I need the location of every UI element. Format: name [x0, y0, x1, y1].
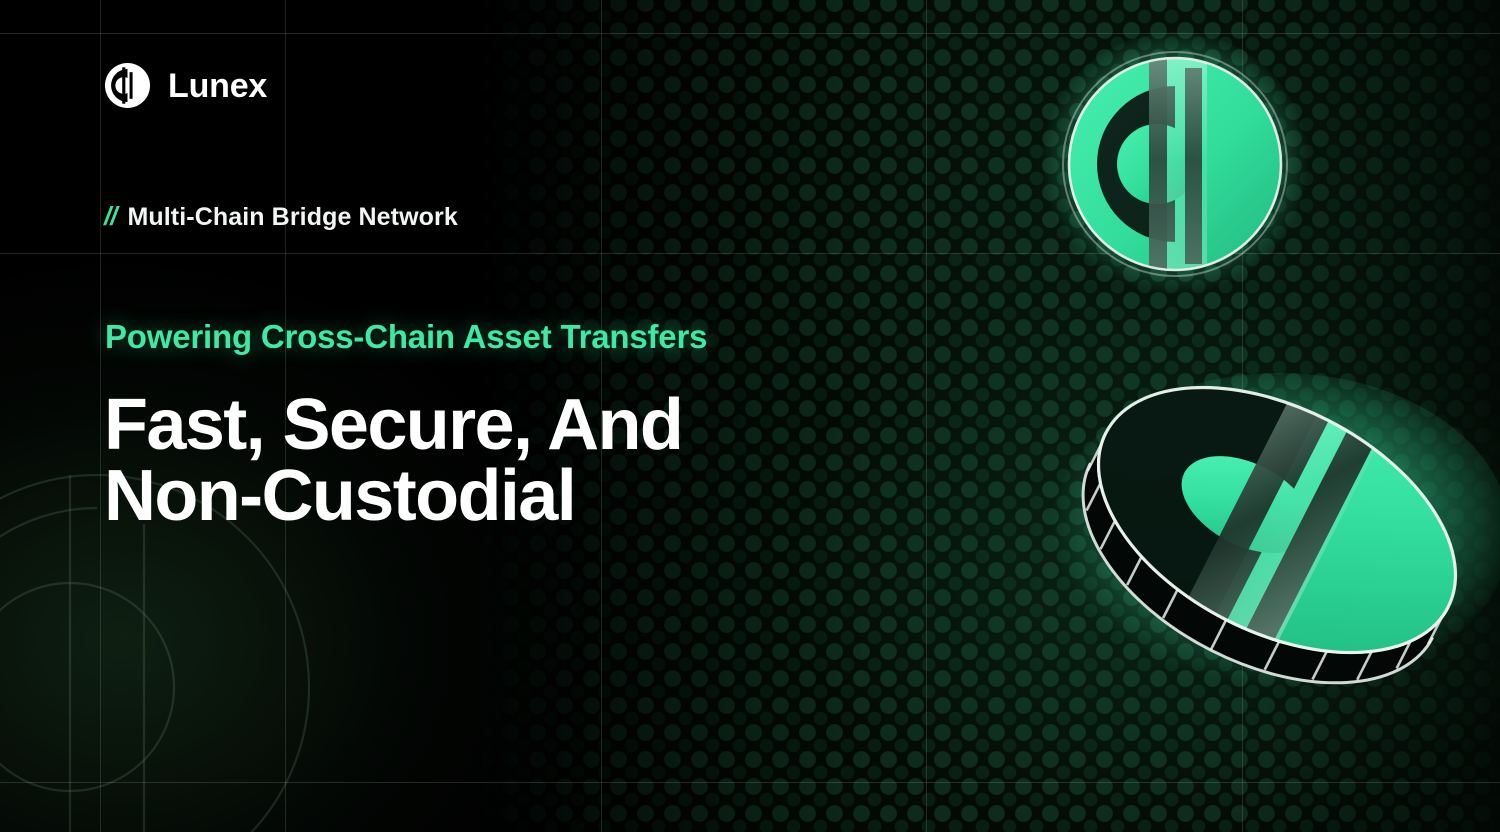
brand-lockup[interactable]: Lunex — [104, 62, 267, 109]
lunex-coin-tilted-icon — [1055, 368, 1500, 728]
lunex-circle-mark-icon — [104, 62, 151, 109]
eyebrow-label: Multi-Chain Bridge Network — [127, 205, 457, 230]
hero-kicker: Powering Cross-Chain Asset Transfers — [105, 320, 707, 353]
hero-banner: Lunex // Multi-Chain Bridge Network Powe… — [0, 0, 1500, 832]
hero-headline: Fast, Secure, And Non-Custodial — [104, 390, 682, 533]
eyebrow: // Multi-Chain Bridge Network — [104, 203, 458, 230]
eyebrow-slashes-icon: // — [104, 203, 116, 229]
lunex-coin-front-icon — [1057, 46, 1303, 298]
grid-line-horizontal — [0, 33, 1500, 34]
grid-line-vertical — [926, 0, 927, 832]
brand-name: Lunex — [168, 69, 267, 103]
